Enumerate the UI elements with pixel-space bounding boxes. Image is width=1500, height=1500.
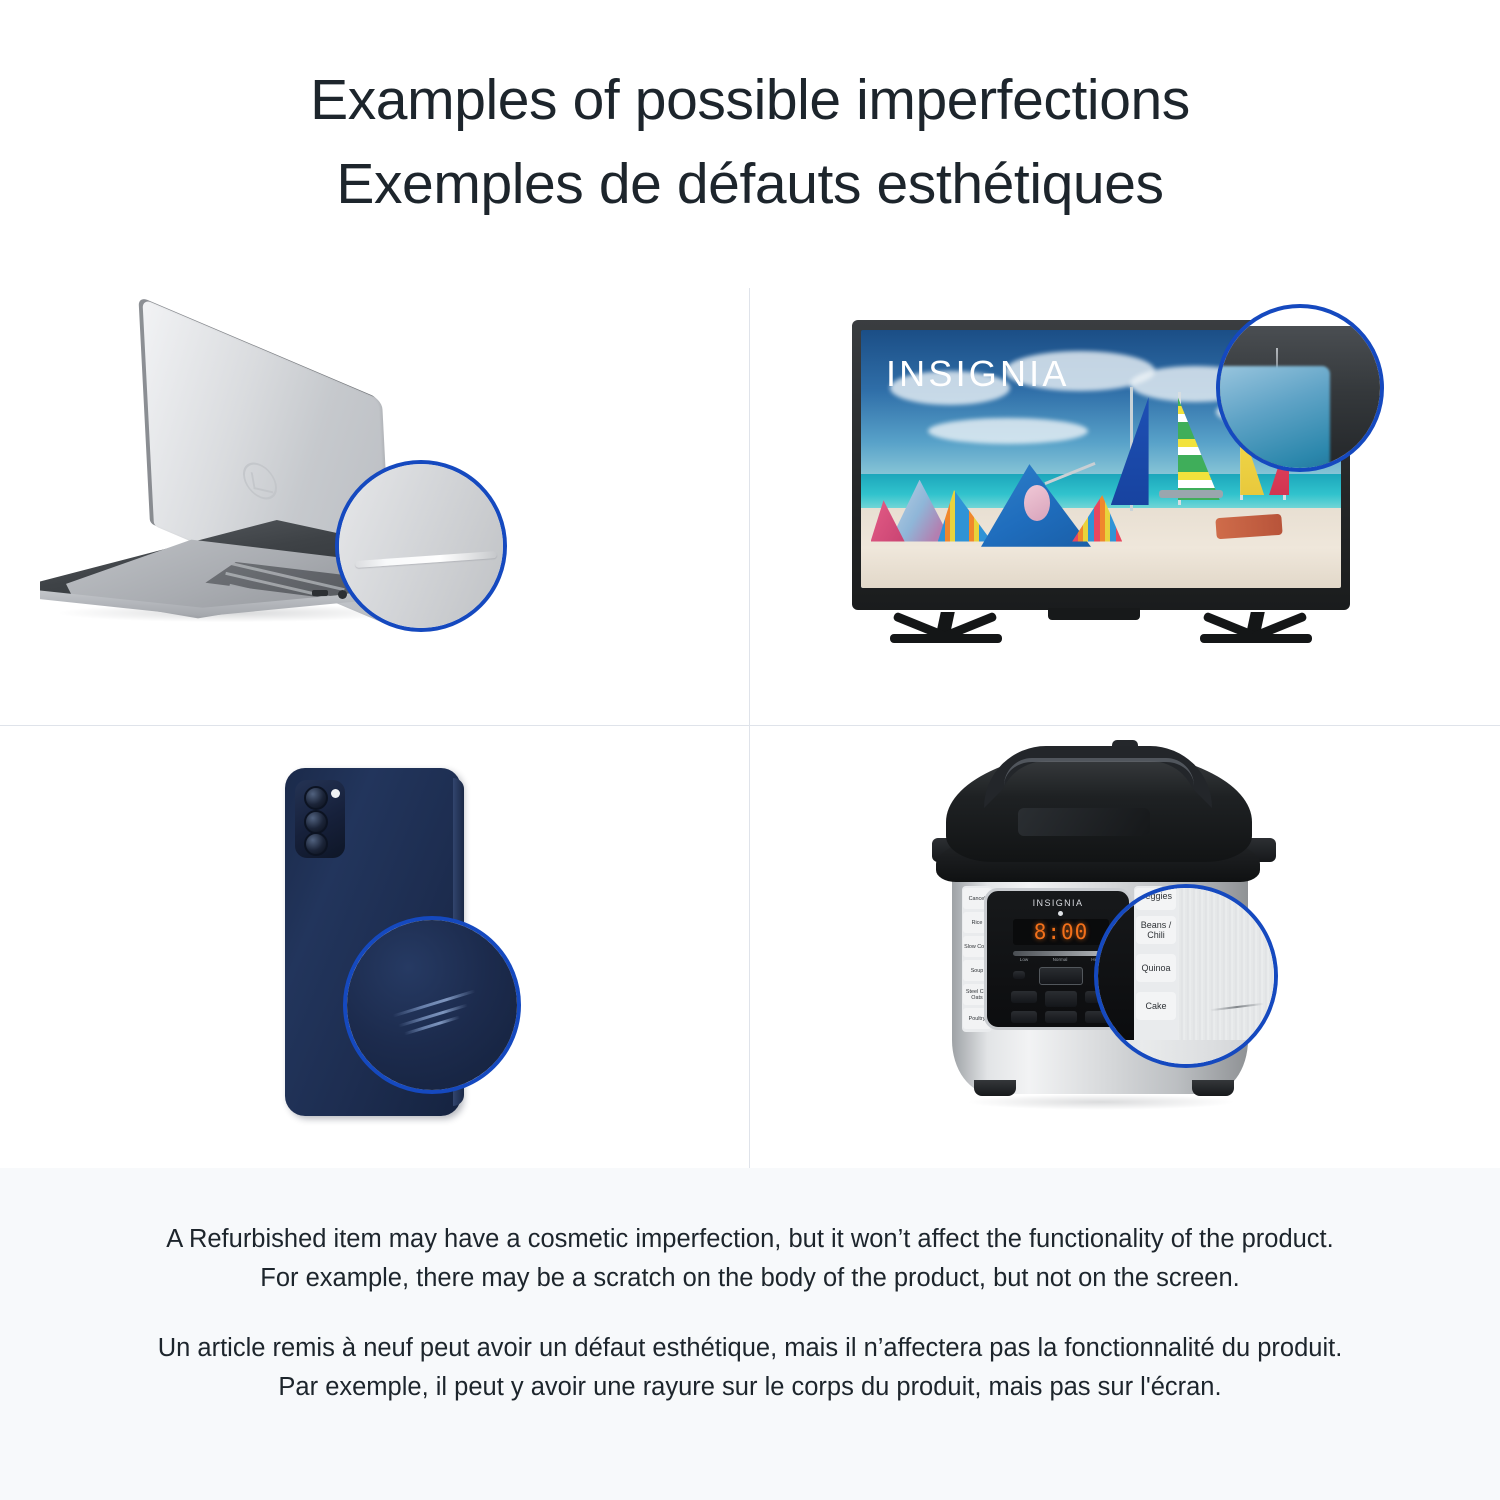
cooker-pressure-scale bbox=[1013, 951, 1109, 956]
cooker-handle-highlight bbox=[1004, 758, 1194, 786]
cooker-zoom-button[interactable]: Veggies bbox=[1136, 884, 1176, 910]
refurbished-imperfections-infographic: Examples of possible imperfections Exemp… bbox=[0, 0, 1500, 1500]
laptop-zoom-surface bbox=[339, 464, 503, 628]
laptop-scratch bbox=[355, 551, 497, 568]
phone-camera-lens bbox=[304, 810, 328, 834]
example-cell-pressure-cooker: Cancel Rice Slow Cook Soup Steel Cut Oat… bbox=[750, 726, 1500, 1168]
cooker-zoom-button[interactable]: Beans / Chili bbox=[1136, 916, 1176, 944]
cooker-button-less-normal-more[interactable] bbox=[1045, 991, 1077, 1007]
cooker-button-pressure[interactable] bbox=[1045, 1011, 1077, 1023]
cooker-zoom-lower-body bbox=[1094, 1040, 1278, 1068]
laptop-illustration bbox=[40, 352, 460, 652]
television-illustration: INSIGNIA bbox=[852, 320, 1350, 672]
cooker-lid-graphic bbox=[1018, 808, 1150, 836]
cooker-foot-right bbox=[1192, 1080, 1234, 1096]
cooker-button-manual[interactable] bbox=[1011, 991, 1037, 1003]
cooker-display-value: 8:00 bbox=[1034, 920, 1089, 944]
phone-imperfection-magnifier bbox=[343, 916, 521, 1094]
tv-imperfection-magnifier bbox=[1216, 304, 1384, 472]
laptop-usb-port bbox=[312, 590, 328, 596]
header: Examples of possible imperfections Exemp… bbox=[0, 0, 1500, 272]
cooker-shadow bbox=[966, 1094, 1236, 1110]
tv-screen-brand-logo: INSIGNIA bbox=[886, 353, 1070, 395]
smartphone-illustration bbox=[285, 768, 485, 1128]
phone-camera-module bbox=[295, 780, 345, 858]
page-title-fr: Exemples de défauts esthétiques bbox=[336, 142, 1163, 226]
cooker-zoom-button[interactable]: Quinoa bbox=[1136, 954, 1176, 982]
examples-grid: INSIGNIA bbox=[0, 272, 1500, 1168]
cooker-zoom-surface: Delay Slow Cook Veggies Beans / Chili Qu… bbox=[1098, 888, 1274, 1064]
example-cell-smartphone bbox=[0, 726, 749, 1168]
cooker-led-display: 8:00 bbox=[1013, 919, 1109, 945]
phone-camera-lens bbox=[304, 832, 328, 856]
phone-zoom-surface bbox=[347, 920, 517, 1090]
tv-leg-strut bbox=[892, 611, 949, 641]
footer-paragraph-en: A Refurbished item may have a cosmetic i… bbox=[150, 1220, 1350, 1298]
cooker-imperfection-magnifier: Delay Slow Cook Veggies Beans / Chili Qu… bbox=[1094, 884, 1278, 1068]
cooker-scale-label-low: Low bbox=[1009, 957, 1039, 963]
cooker-zoom-brushed-steel bbox=[1174, 888, 1278, 1064]
tv-leg-strut bbox=[940, 611, 997, 641]
tv-leg-strut bbox=[1202, 611, 1259, 641]
cooker-minus-button[interactable] bbox=[1013, 971, 1025, 979]
tv-leg-strut bbox=[1250, 611, 1307, 641]
phone-scuff-mark bbox=[404, 1016, 460, 1036]
cooker-foot-left bbox=[974, 1080, 1016, 1096]
cooker-zoom-button-column: Veggies Beans / Chili Quinoa Cake bbox=[1134, 888, 1178, 1040]
tv-center-mount bbox=[1048, 608, 1140, 620]
page-title-en: Examples of possible imperfections bbox=[310, 58, 1190, 142]
laptop-imperfection-magnifier bbox=[335, 460, 507, 632]
tv-scene-tent-badge bbox=[1024, 485, 1050, 521]
tv-scene-kayak bbox=[1216, 513, 1283, 538]
cooker-zoom-button[interactable]: Cake bbox=[1136, 992, 1176, 1020]
cooker-status-indicator bbox=[1058, 911, 1063, 916]
tv-leg-right bbox=[1200, 612, 1312, 662]
tv-zoom-screen-area bbox=[1216, 366, 1330, 472]
footer-paragraph-fr: Un article remis à neuf peut avoir un dé… bbox=[150, 1329, 1350, 1407]
tv-scene-cloud bbox=[928, 418, 1088, 444]
tv-leg-left bbox=[890, 612, 1002, 662]
example-cell-television: INSIGNIA bbox=[750, 272, 1500, 725]
cooker-button-saute[interactable] bbox=[1011, 1011, 1037, 1023]
phone-flash-icon bbox=[331, 789, 340, 798]
phone-camera-lens bbox=[304, 786, 328, 810]
cooker-scale-label-normal: Normal bbox=[1045, 957, 1075, 963]
cooker-mode-window[interactable] bbox=[1039, 967, 1083, 985]
tv-scene-hull bbox=[1159, 490, 1223, 498]
footer-description: A Refurbished item may have a cosmetic i… bbox=[0, 1168, 1500, 1500]
example-cell-laptop bbox=[0, 272, 749, 725]
pressure-cooker-illustration: Cancel Rice Slow Cook Soup Steel Cut Oat… bbox=[926, 750, 1282, 1136]
